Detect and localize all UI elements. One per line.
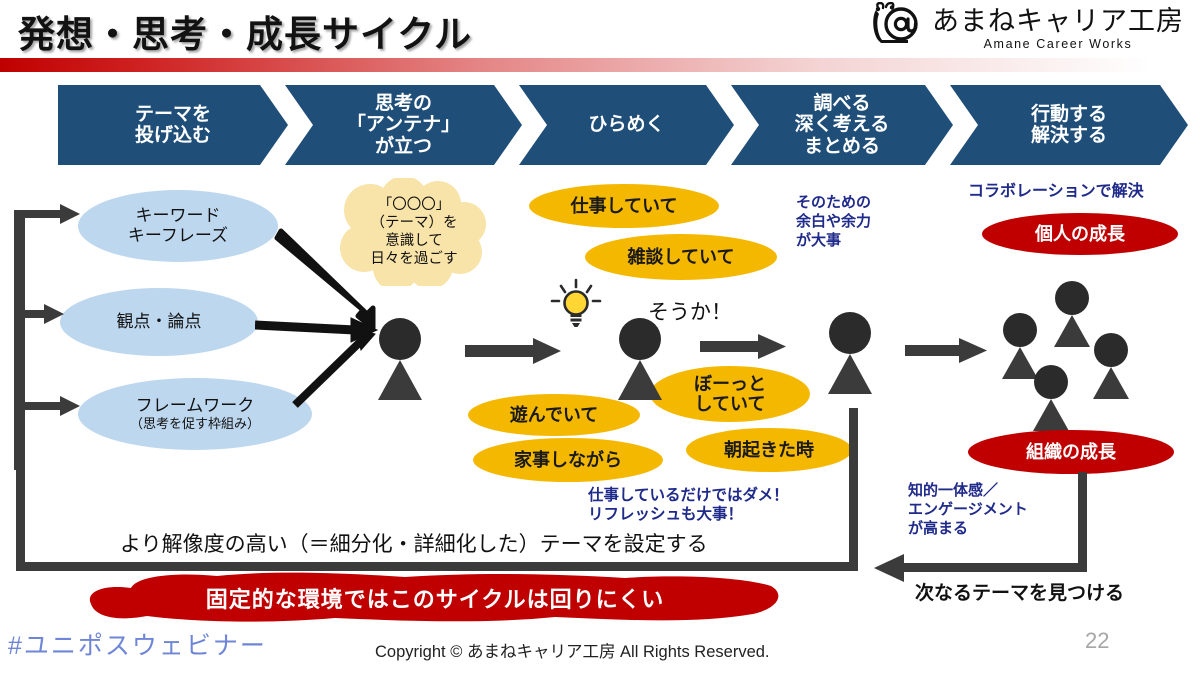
moment-idle-line-2: していて [695, 394, 766, 414]
note-margin-line-3: が大事 [796, 232, 871, 251]
note-engagement-line-2: エンゲージメント [908, 501, 1028, 520]
moment-chores-label: 家事しながら [514, 450, 622, 470]
cloud-line-2: （テーマ）を [371, 214, 458, 232]
theme-cloud: 「〇〇〇」 （テーマ）を 意識して 日々を過ごす [334, 178, 494, 286]
growth-organization: 組織の成長 [968, 430, 1174, 474]
step-4-line-3: まとめる [795, 136, 889, 157]
person-group-1 [1054, 281, 1090, 347]
loop-line-down-mid [849, 408, 858, 570]
note-margin: そのための 余白や余力 が大事 [796, 194, 871, 250]
page-number: 22 [1085, 628, 1109, 654]
note-engagement-line-3: が高まる [908, 520, 1028, 539]
moment-work: 仕事していて [529, 184, 719, 228]
step-5-line-2: 解決する [1031, 125, 1107, 146]
person-group-3 [1093, 333, 1129, 399]
moment-play-label: 遊んでいて [510, 405, 599, 425]
moment-idle: ぼーっと していて [650, 366, 810, 422]
note-refresh: 仕事しているだけではダメ！ リフレッシュも大事！ [588, 486, 789, 525]
person-insight [618, 318, 662, 400]
moment-work-label: 仕事していて [571, 196, 678, 216]
logo-jp-text: あまねキャリア工房 [932, 8, 1184, 35]
process-step-1: テーマを 投げ込む [58, 85, 288, 165]
moment-play: 遊んでいて [468, 394, 640, 436]
loop-line-return [902, 563, 1087, 572]
next-theme-text: 次なるテーマを見つける [915, 578, 1124, 605]
growth-organization-label: 組織の成長 [1026, 442, 1116, 463]
title-rule [0, 58, 1200, 72]
process-step-5: 行動する 解決する [950, 85, 1188, 165]
resolution-text: より解像度の高い（＝細分化・詳細化した）テーマを設定する [120, 528, 708, 558]
note-refresh-line-2: リフレッシュも大事！ [588, 505, 789, 524]
moment-idle-line-1: ぼーっと [694, 374, 766, 394]
copyright-label: Copyright © あまねキャリア工房 All Rights Reserve… [375, 638, 770, 662]
process-step-3: ひらめく [519, 85, 734, 165]
cloud-line-3: 意識して [385, 232, 443, 250]
cloud-line-4: 日々を過ごす [370, 250, 457, 268]
note-margin-line-1: そのための [796, 194, 871, 213]
step-4-line-1: 調べる [795, 93, 889, 114]
loop-return-arrowhead [874, 554, 908, 582]
loop-line-left-up [16, 214, 25, 566]
slide: 発想・思考・成長サイクル あまねキャリア工房 Amane Career Work… [0, 0, 1200, 675]
snail-at-logo-icon [868, 2, 926, 50]
note-collaboration: コラボレーションで解決 [968, 182, 1144, 202]
moment-morning: 朝起きた時 [686, 428, 852, 472]
flow-arrow-1 [465, 336, 575, 366]
warning-banner-label: 固定的な環境ではこのサイクルは回りにくい [206, 582, 664, 614]
hashtag-label: #ユニポスウェビナー [8, 626, 267, 662]
growth-personal: 個人の成長 [982, 213, 1178, 255]
step-5-line-1: 行動する [1031, 104, 1107, 125]
step-4-line-2: 深く考える [795, 114, 889, 135]
flow-arrow-3 [905, 336, 1005, 366]
cloud-line-1: 「〇〇〇」 [378, 196, 451, 214]
growth-personal-label: 個人の成長 [1035, 224, 1125, 245]
person-group-4 [1033, 365, 1069, 431]
step-1-line-1: テーマを [135, 104, 211, 125]
person-thinker [378, 318, 422, 400]
loop-line-bottom [16, 562, 858, 571]
logo-en-text: Amane Career Works [984, 38, 1133, 51]
note-refresh-line-1: 仕事しているだけではダメ！ [588, 486, 789, 505]
moment-morning-label: 朝起きた時 [724, 440, 814, 460]
warning-banner: 固定的な環境ではこのサイクルは回りにくい [85, 572, 785, 624]
page-title: 発想・思考・成長サイクル [18, 4, 472, 58]
step-3-line-1: ひらめく [588, 114, 664, 135]
moment-chores: 家事しながら [473, 438, 663, 482]
process-step-2: 思考の 「アンテナ」 が立つ [285, 85, 522, 165]
step-2-line-2: 「アンテナ」 [347, 114, 460, 135]
note-margin-line-2: 余白や余力 [796, 213, 871, 232]
note-engagement-line-1: 知的一体感／ [908, 482, 1028, 501]
step-2-line-1: 思考の [347, 93, 460, 114]
person-research [828, 312, 872, 394]
lightbulb-icon [548, 278, 604, 334]
step-2-line-3: が立つ [347, 136, 460, 157]
note-engagement: 知的一体感／ エンゲージメント が高まる [908, 482, 1028, 538]
moment-chat-label: 雑談していて [628, 247, 735, 267]
brand-logo: あまねキャリア工房 Amane Career Works [868, 2, 1184, 50]
flow-arrow-2 [700, 332, 800, 362]
step-1-line-2: 投げ込む [135, 125, 211, 146]
loop-line-down-right [1078, 472, 1087, 572]
process-step-4: 調べる 深く考える まとめる [731, 85, 953, 165]
moment-chat: 雑談していて [585, 234, 777, 280]
